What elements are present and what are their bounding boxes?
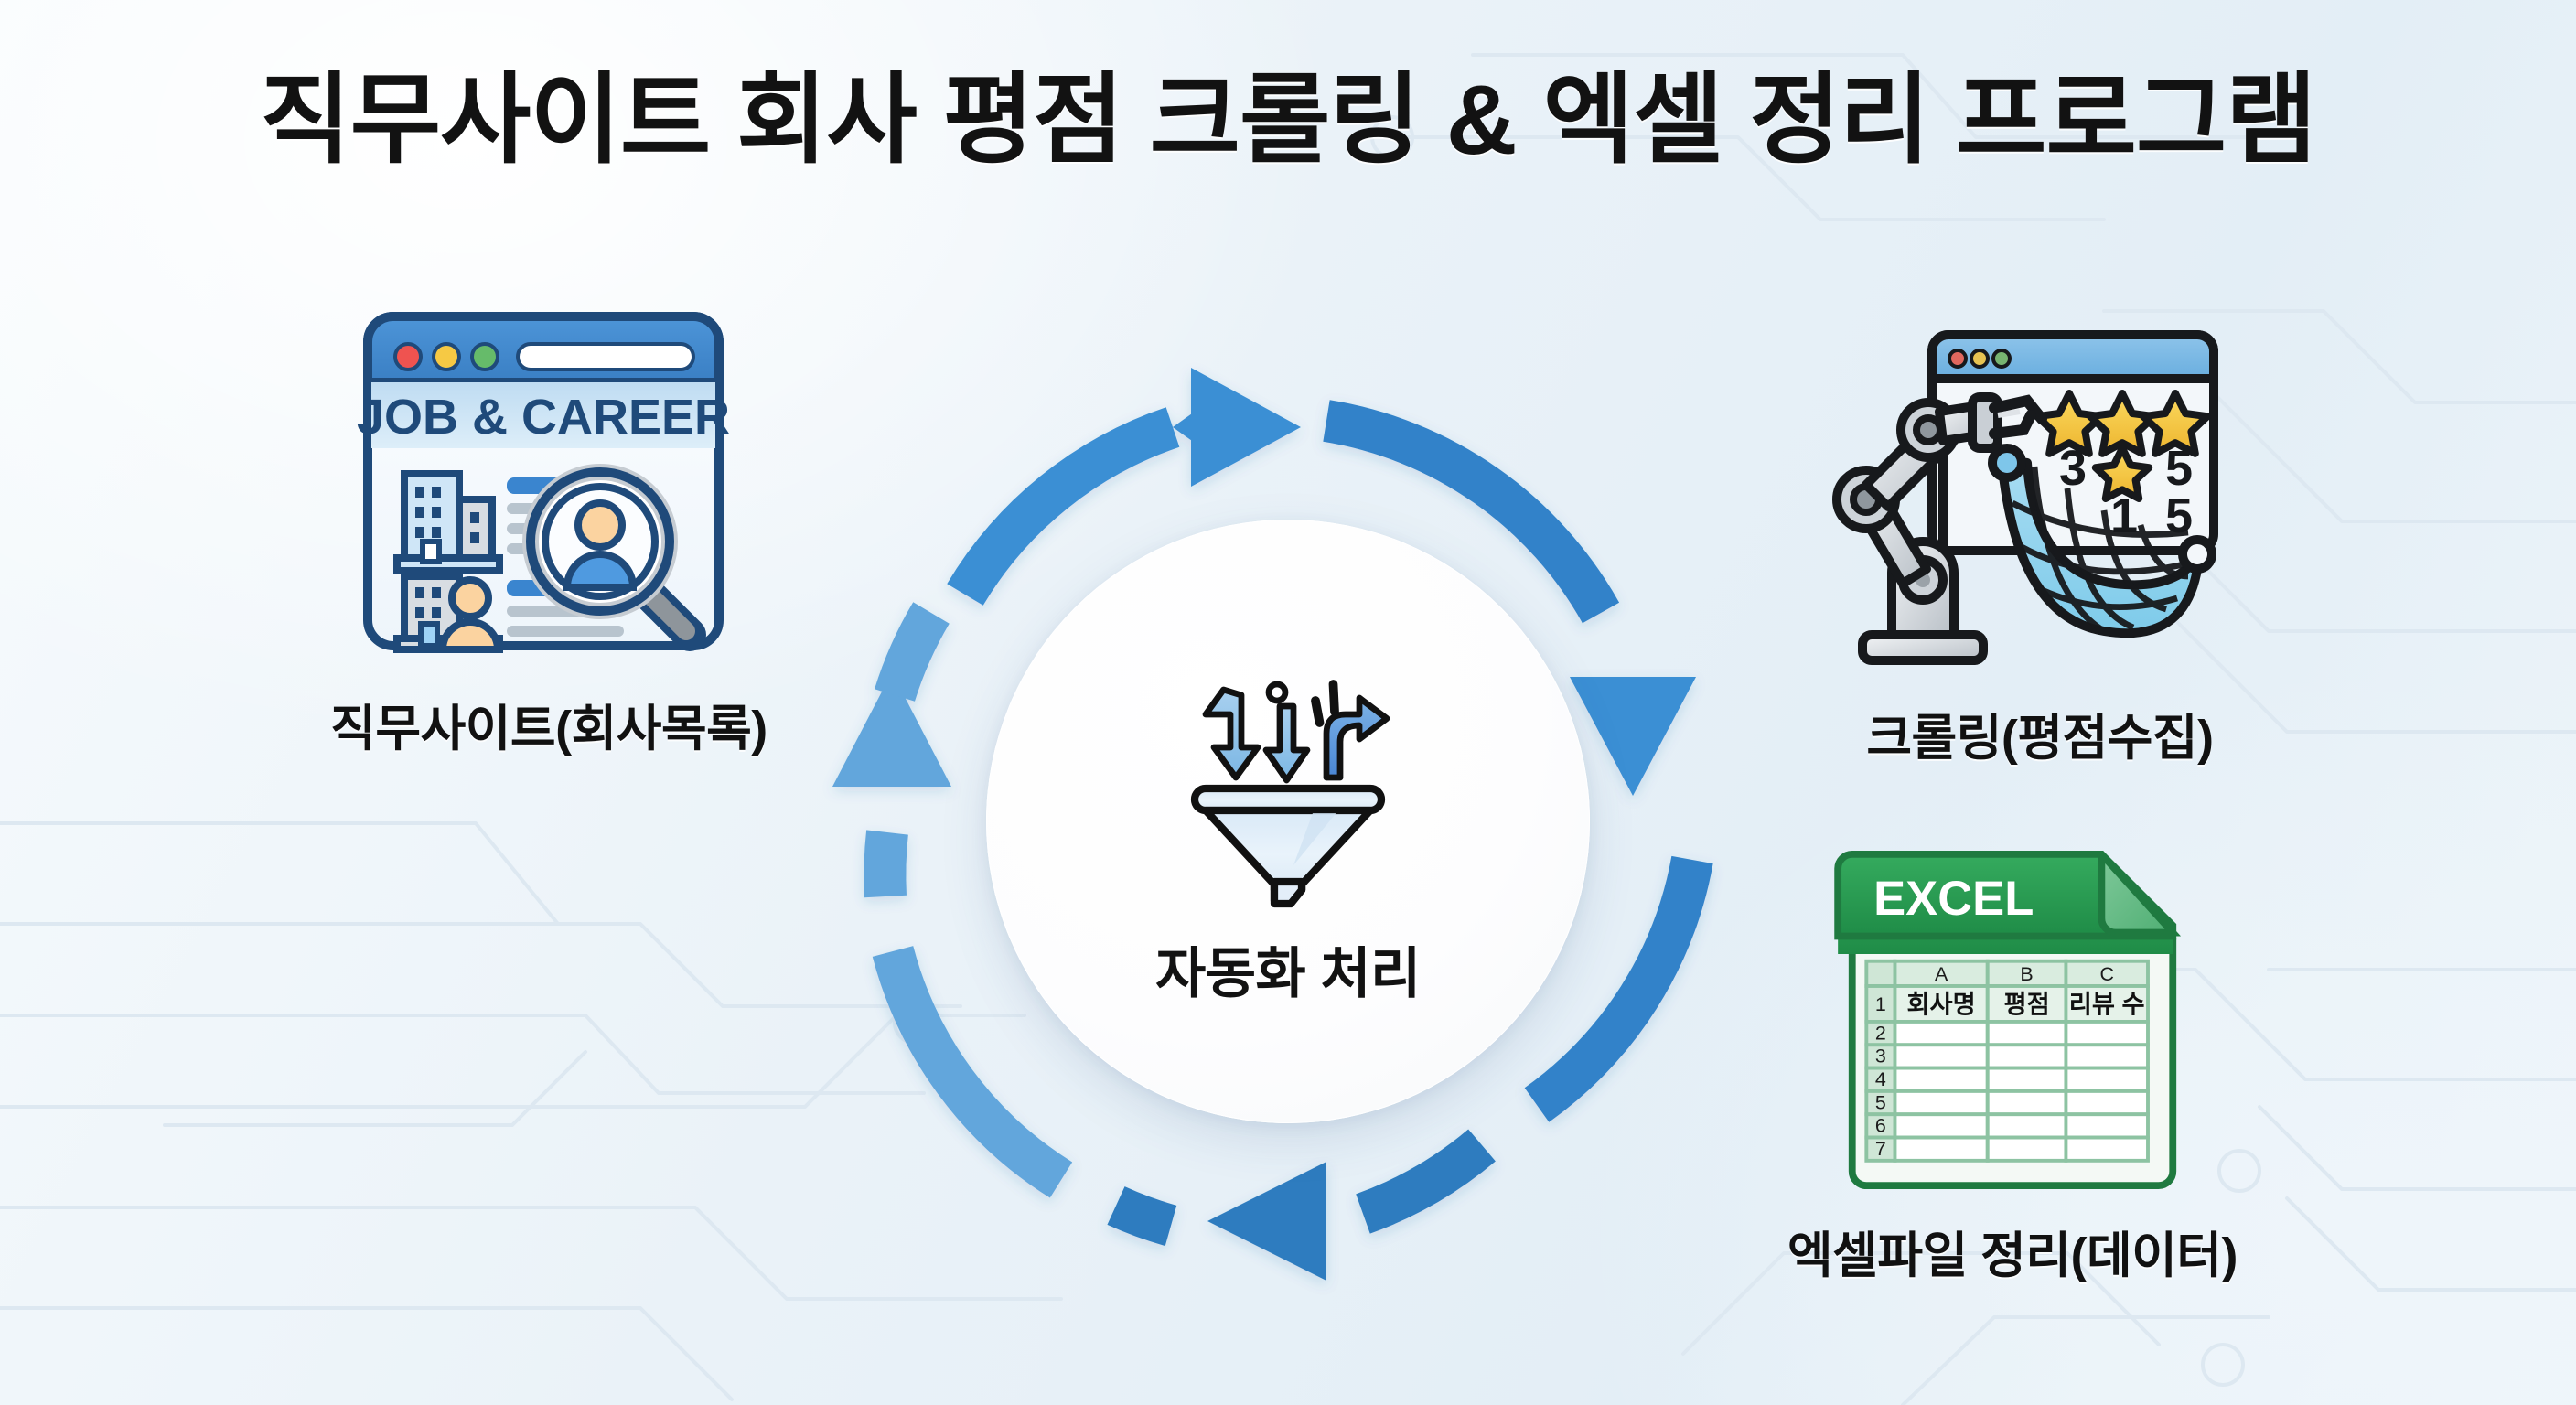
browser-heading-text: JOB & CAREER [357, 390, 730, 445]
funnel-filter-icon [1151, 635, 1425, 909]
rating-digit-5: 5 [2165, 441, 2193, 496]
node-crawl-label: 크롤링(평점수집) [1866, 697, 2213, 769]
excel-row-1: 1 [1875, 993, 1886, 1015]
excel-col-c: C [2099, 963, 2113, 985]
hub-label: 자동화 처리 [1155, 929, 1421, 1009]
rating-digit-3: 3 [2059, 441, 2087, 496]
excel-header-company: 회사명 [1906, 990, 1975, 1018]
excel-sheet-grid: A B C 1 회사명 평점 리뷰 수 [1866, 961, 2148, 1161]
node-jobsite-label: 직무사이트(회사목록) [330, 688, 767, 760]
node-jobsite: JOB & CAREER [256, 302, 842, 760]
cycle-arrow-bottom [1116, 1145, 1482, 1281]
excel-header-rating: 평점 [2004, 990, 2050, 1018]
excel-col-a: A [1935, 963, 1948, 985]
excel-row-7: 7 [1875, 1138, 1886, 1160]
excel-file-tab-label: EXCEL [1873, 872, 2034, 926]
excel-row-2: 2 [1875, 1022, 1886, 1044]
node-excel: EXCEL A B C 1 회사명 평점 리뷰 수 [1711, 851, 2314, 1287]
node-crawl: 3 5 1 5 [1766, 320, 2314, 769]
excel-row-4: 4 [1875, 1068, 1886, 1090]
robot-arm-net-rating-icon: 3 5 1 5 [1811, 320, 2269, 686]
excel-row-5: 5 [1875, 1091, 1886, 1113]
excel-header-reviews: 리뷰 수 [2069, 990, 2145, 1018]
automation-hub: 자동화 처리 [986, 520, 1590, 1123]
infographic-canvas: 직무사이트 회사 평점 크롤링 & 엑셀 정리 프로그램 [0, 0, 2576, 1405]
excel-row-6: 6 [1875, 1115, 1886, 1137]
excel-row-3: 3 [1875, 1046, 1886, 1067]
excel-file-icon: EXCEL A B C 1 회사명 평점 리뷰 수 [1834, 851, 2191, 1189]
node-excel-label: 엑셀파일 정리(데이터) [1787, 1215, 2238, 1287]
page-title: 직무사이트 회사 평점 크롤링 & 엑셀 정리 프로그램 [0, 40, 2576, 183]
excel-col-b: B [2020, 963, 2033, 985]
job-site-browser-icon: JOB & CAREER [357, 302, 741, 668]
